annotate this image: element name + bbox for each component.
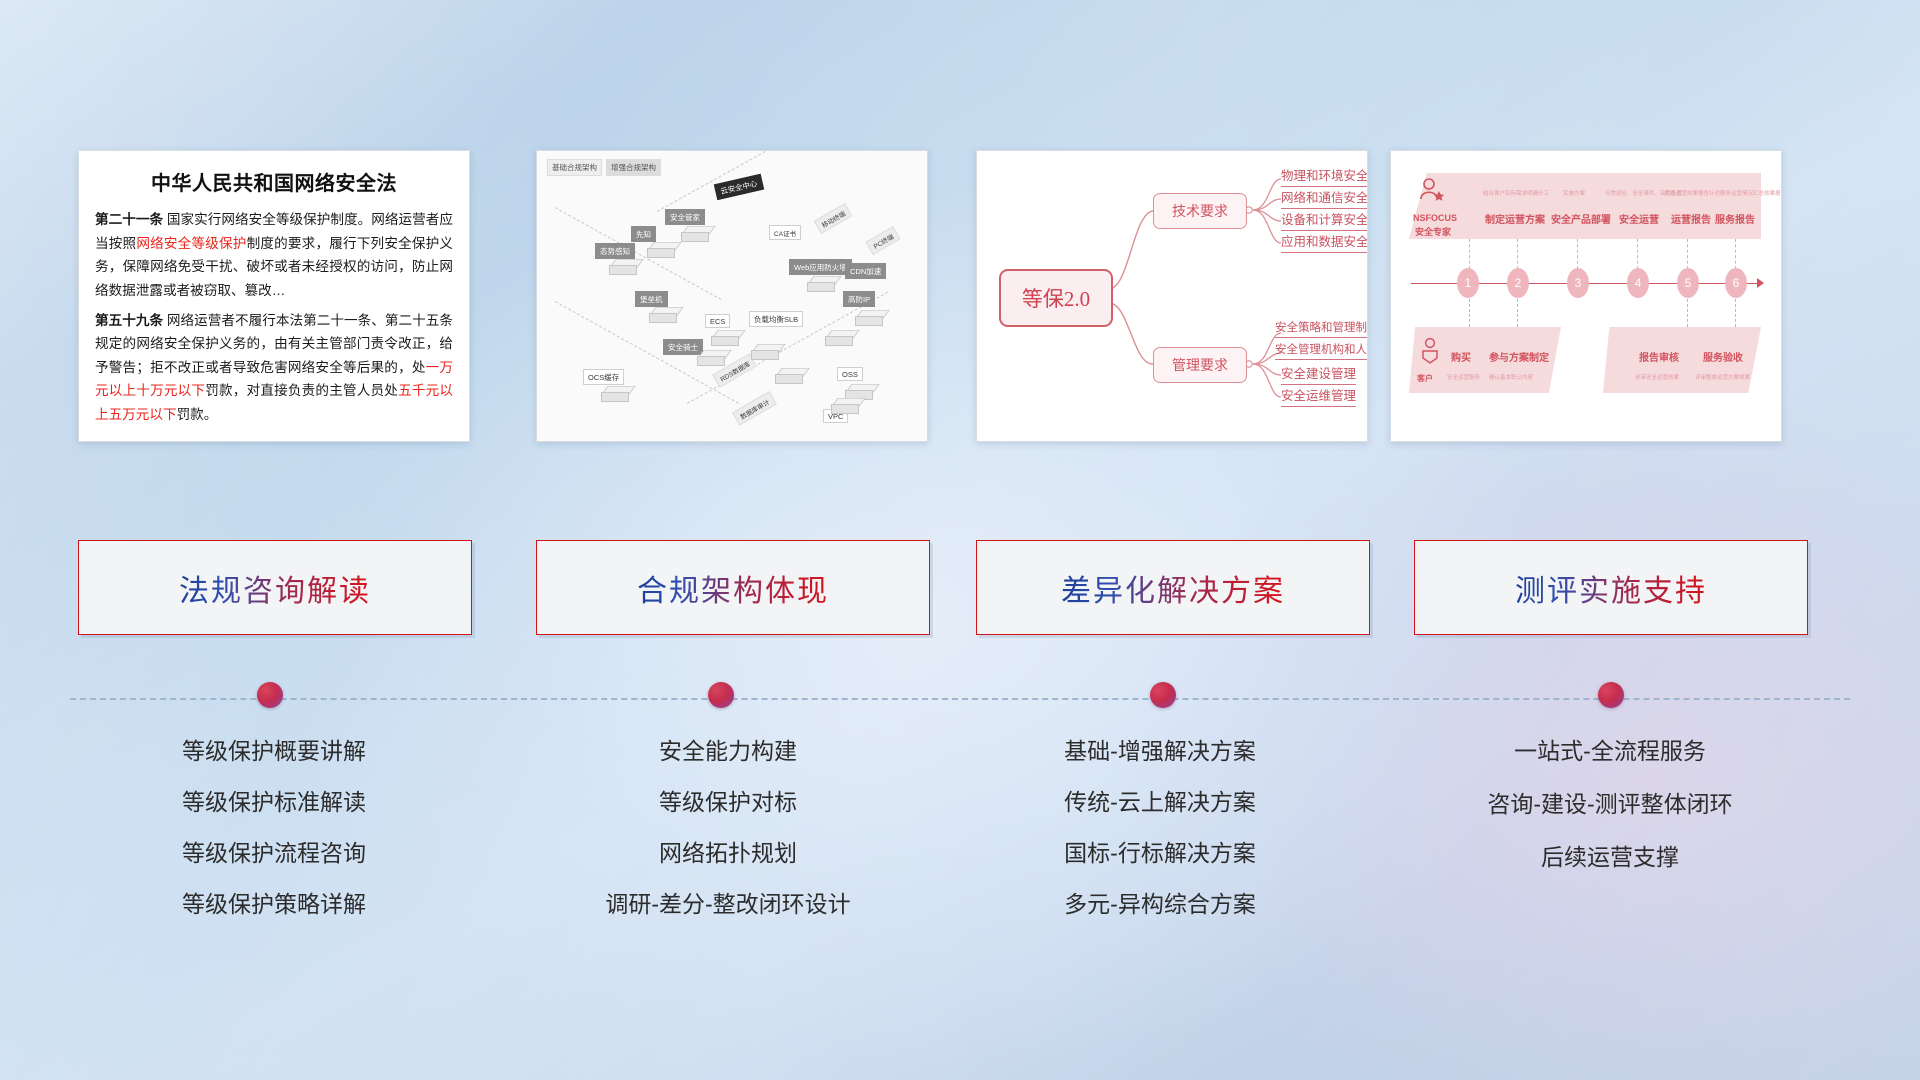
security-expert-icon [1417,177,1447,211]
list-item: 咨询-建设-测评整体闭环 [1410,793,1810,816]
article-59-text-c: 罚款。 [177,407,218,422]
detail-column-4: 一站式-全流程服务 咨询-建设-测评整体闭环 后续运营支撑 [1410,740,1810,897]
connector-dash [1735,239,1736,269]
top-step-title: 运营报告 [1671,211,1711,226]
connector-dash [1469,239,1470,269]
detail-list-row: 等级保护概要讲解 等级保护标准解读 等级保护流程咨询 等级保护策略详解 安全能力… [0,740,1920,960]
bottom-step-title: 购买 [1451,349,1471,364]
arch-node-load-balancer: 负载均衡SLB [749,311,803,327]
mindmap-root-node: 等保2.0 [999,269,1113,327]
nsfocus-timeline: NSFOCUS 安全专家 结合客户实际需求明确分工 制定运营方案 实施方案 安全… [1391,151,1781,441]
timeline-top-band [1409,173,1761,239]
connector-dash [1637,239,1638,269]
arch-node-cloud-security: 云安全中心 [714,174,764,200]
headline-label: 测评实施支持 [1515,566,1707,610]
top-step-sub: 结合客户实际需求明确分工 [1483,189,1549,197]
list-item: 等级保护对标 [528,791,928,814]
top-step-title: 服务报告 [1715,211,1755,226]
mindmap-leaf: 物理和环境安全 [1281,165,1368,187]
detail-column-3: 基础-增强解决方案 传统-云上解决方案 国标-行标解决方案 多元-异构综合方案 [960,740,1360,944]
brand-subtitle: 安全专家 [1415,225,1451,238]
top-step-title: 安全产品部署 [1551,211,1611,226]
connector-dash [1517,299,1518,327]
architecture-tabs: 基础合规架构 增强合规架构 [547,159,661,176]
timeline-marker-dot[interactable] [257,682,283,708]
arch-node-mobile-terminal: 移动终端 [814,203,853,234]
list-item: 基础-增强解决方案 [960,740,1360,763]
timeline-arrow-icon [1757,278,1764,288]
bottom-step-sub: 安全运营服务 [1447,373,1480,381]
list-item: 国标-行标解决方案 [960,842,1360,865]
connector-dash [1469,299,1470,327]
timeline-dashed-line [70,698,1850,700]
timeline-node: 6 [1725,268,1747,298]
arch-node-ecs: ECS [705,314,730,328]
bottom-step-title: 参与方案制定 [1489,349,1549,364]
list-item: 等级保护标准解读 [74,791,474,814]
connector-dash [1687,239,1688,269]
article-59-label: 第五十九条 [95,313,163,328]
card-compliance-architecture[interactable]: 基础合规架构 增强合规架构 云安全中心 安全管家 先知 态势感知 堡垒机 ECS… [536,150,928,442]
connector-dash [1517,239,1518,269]
top-step-title: 制定运营方案 [1485,211,1545,226]
list-item: 多元-异构综合方案 [960,893,1360,916]
timeline-marker-dot[interactable] [1150,682,1176,708]
timeline-node: 3 [1567,268,1589,298]
top-step-sub: 针对服务运营情况汇总效果报告 [1709,189,1781,197]
arch-node-cdn: CDN加速 [845,263,886,279]
list-item: 等级保护策略详解 [74,893,474,916]
article-21-highlight: 网络安全等级保护 [136,236,246,251]
list-item: 后续运营支撑 [1410,846,1810,869]
mindmap-leaf: 安全策略和管理制度 [1275,319,1368,338]
law-article-59: 第五十九条 网络运营者不履行本法第二十一条、第二十五条规定的网络安全保护义务的，… [95,309,453,427]
headline-label: 差异化解决方案 [1061,566,1285,610]
mindmap-leaf: 网络和通信安全 [1281,187,1368,209]
detail-column-1: 等级保护概要讲解 等级保护标准解读 等级保护流程咨询 等级保护策略详解 [74,740,474,944]
connector-dash [1577,239,1578,269]
mindmap-leaf: 安全管理机构和人员 [1275,341,1368,360]
mindmap-branch-management: 管理要求 [1153,347,1247,383]
headline-label: 合规架构体现 [637,566,829,610]
mindmap-branch-technical: 技术要求 [1153,193,1247,229]
arch-node-pc-terminal: PC终端 [865,226,900,255]
mindmap-leaf: 安全建设管理 [1281,363,1356,385]
connector-dash [1687,299,1688,327]
architecture-tab-enhanced[interactable]: 增强合规架构 [606,159,661,176]
arch-node-anti-ddos-ip: 高防IP [843,291,875,307]
law-text-body: 中华人民共和国网络安全法 第二十一条 国家实行网络安全等级保护制度。网络运营者应… [79,151,469,441]
headline-label: 法规咨询解读 [179,566,371,610]
law-title: 中华人民共和国网络安全法 [95,167,453,196]
bottom-step-sub: 评审安全运营效果 [1635,373,1679,381]
list-item: 一站式-全流程服务 [1410,740,1810,763]
list-item: 调研-差分-整改闭环设计 [528,893,928,916]
mindmap-leaf: 安全运维管理 [1281,385,1356,407]
article-21-label: 第二十一条 [95,212,163,227]
card-dengbao-mindmap[interactable]: 等保2.0 技术要求 管理要求 物理和环境安全 网络和通信安全 设备和计算安全 … [976,150,1368,442]
headline-box-compliance-architecture[interactable]: 合规架构体现 [536,540,930,635]
top-step-title: 安全运营 [1619,211,1659,226]
timeline-node: 1 [1457,268,1479,298]
top-step-sub: 阶段运营效果报告 [1665,189,1709,197]
list-item: 安全能力构建 [528,740,928,763]
law-article-21: 第二十一条 国家实行网络安全等级保护制度。网络运营者应当按照网络安全等级保护制度… [95,208,453,303]
arch-node-oss: OSS [837,367,863,381]
list-item: 等级保护流程咨询 [74,842,474,865]
timeline-node: 2 [1507,268,1529,298]
headline-box-evaluation-support[interactable]: 测评实施支持 [1414,540,1808,635]
architecture-tab-basic[interactable]: 基础合规架构 [547,159,602,176]
bottom-step-sub: 评审整体运营方案效果 [1695,373,1750,381]
list-item: 等级保护概要讲解 [74,740,474,763]
arch-node-database-audit: 数据库审计 [732,391,776,425]
card-cybersecurity-law[interactable]: 中华人民共和国网络安全法 第二十一条 国家实行网络安全等级保护制度。网络运营者应… [78,150,470,442]
brand-name: NSFOCUS [1413,213,1457,223]
card-nsfocus-timeline[interactable]: NSFOCUS 安全专家 结合客户实际需求明确分工 制定运营方案 实施方案 安全… [1390,150,1782,442]
customer-icon [1419,337,1445,367]
headline-box-differentiated-solution[interactable]: 差异化解决方案 [976,540,1370,635]
arch-node-ca-certificate: CA证书 [769,225,801,240]
top-step-sub: 实施方案 [1563,189,1585,197]
bottom-step-sub: 确认基本职认内容 [1489,373,1533,381]
mindmap-leaf: 设备和计算安全 [1281,209,1368,231]
article-59-text-b: 罚款，对直接负责的主管人员处 [205,383,398,398]
headline-box-regulation-consulting[interactable]: 法规咨询解读 [78,540,472,635]
timeline-node: 4 [1627,268,1649,298]
customer-label: 客户 [1417,373,1433,384]
headline-row: 法规咨询解读 合规架构体现 差异化解决方案 测评实施支持 [0,540,1920,650]
timeline-node: 5 [1677,268,1699,298]
timeline-marker-dot[interactable] [708,682,734,708]
mindmap-leaf: 应用和数据安全 [1281,231,1368,253]
bottom-step-title: 服务验收 [1703,349,1743,364]
image-card-row: 中华人民共和国网络安全法 第二十一条 国家实行网络安全等级保护制度。网络运营者应… [0,0,1920,460]
list-item: 网络拓扑规划 [528,842,928,865]
bottom-step-title: 报告审核 [1639,349,1679,364]
architecture-diagram: 基础合规架构 增强合规架构 云安全中心 安全管家 先知 态势感知 堡垒机 ECS… [537,151,927,441]
mindmap: 等保2.0 技术要求 管理要求 物理和环境安全 网络和通信安全 设备和计算安全 … [977,151,1367,441]
timeline-marker-dot[interactable] [1598,682,1624,708]
connector-dash [1735,299,1736,327]
timeline-strip [0,690,1920,720]
list-item: 传统-云上解决方案 [960,791,1360,814]
detail-column-2: 安全能力构建 等级保护对标 网络拓扑规划 调研-差分-整改闭环设计 [528,740,928,944]
